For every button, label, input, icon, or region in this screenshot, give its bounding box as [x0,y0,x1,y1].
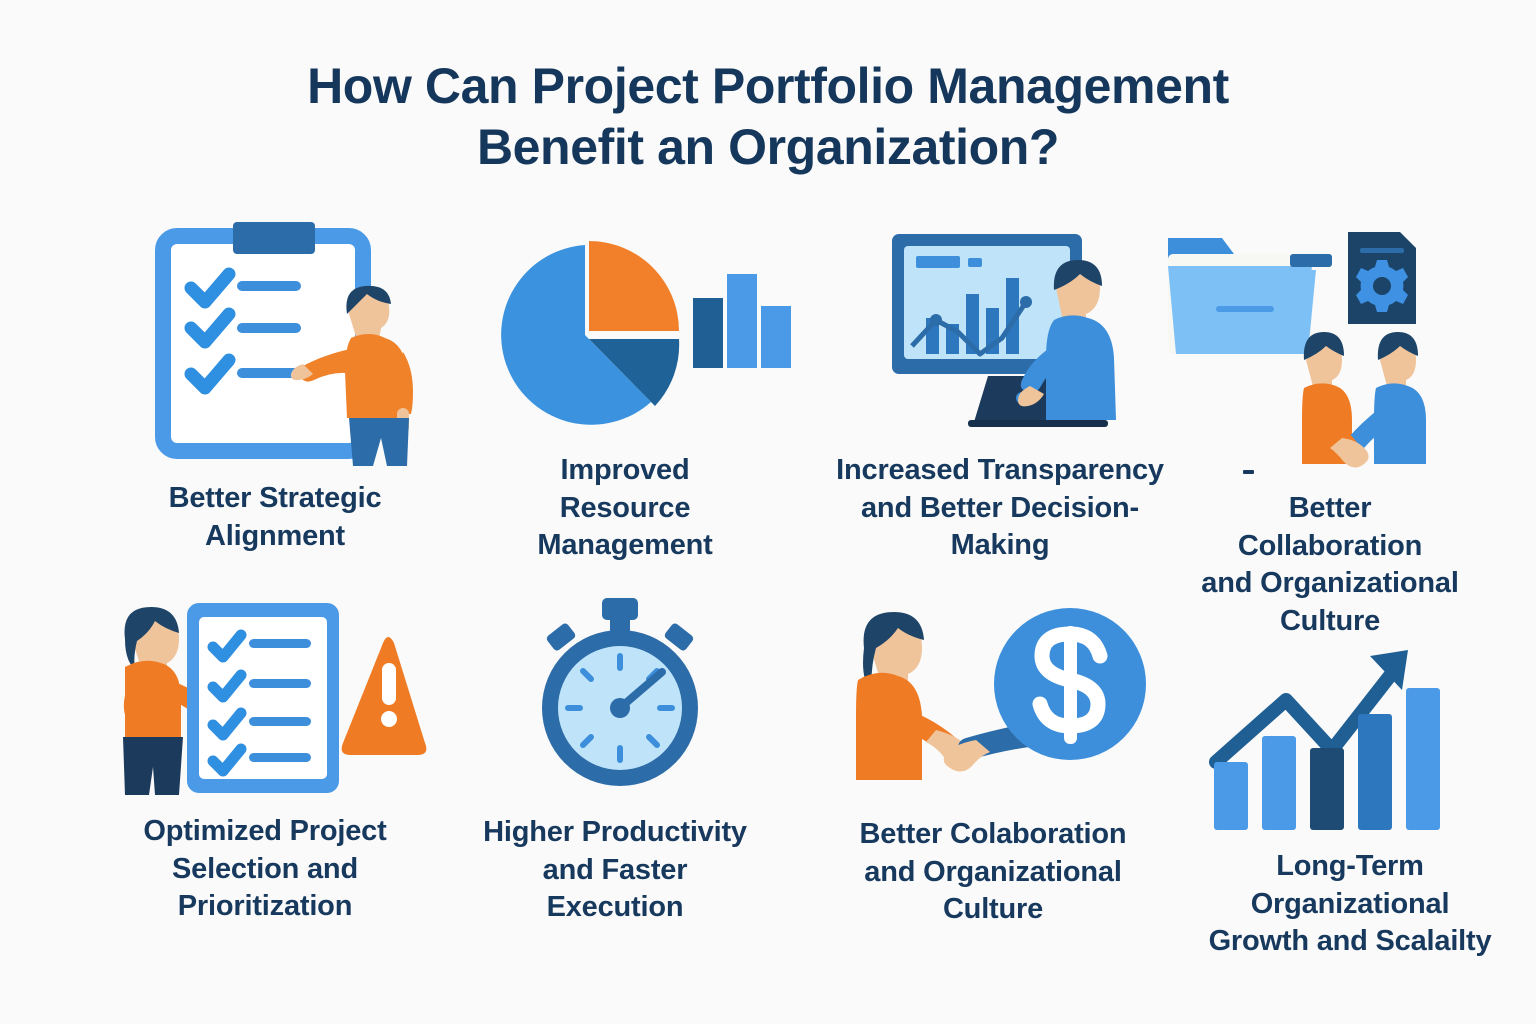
benefit-item-improved-resource-management[interactable]: Improved Resource Management [455,230,795,570]
title-line-2: Benefit an Organization? [0,117,1536,178]
checklist-document [187,603,339,793]
pie-chart [501,241,679,425]
benefit-item-long-term-growth[interactable]: Long-Term Organizational Growth and Scal… [1180,640,1520,970]
benefit-item-higher-productivity[interactable]: Higher Productivity and Faster Execution [440,598,790,948]
caption-line: Improved [455,452,795,490]
dashboard-monitor-person-laptop-icon [840,228,1140,428]
caption-line: Organizational [1180,886,1520,924]
caption-line: Prioritization [85,888,445,926]
benefit-caption: Increased Transparency and Better Decisi… [790,452,1210,565]
caption-line: and Organizational [818,854,1168,892]
pie-chart-bars-icon [475,230,775,440]
benefit-item-better-collaboration[interactable]: Better Collaboration and Organizational … [1160,228,1500,628]
bar-chart [693,274,791,368]
caption-line: Growth and Scalailty [1180,923,1520,961]
caption-line: Selection and [85,851,445,889]
caption-line: Culture [818,891,1168,929]
benefit-item-better-strategic-alignment[interactable]: Better Strategic Alignment [95,222,455,562]
caption-line: Better [1160,490,1500,528]
growth-arrow-bar-chart-icon [1200,640,1480,840]
benefit-item-increased-transparency[interactable]: Increased Transparency and Better Decisi… [790,228,1210,568]
caption-line: Higher Productivity [440,814,790,852]
caption-line: Collaboration [1160,528,1500,566]
warning-triangle-icon [342,637,427,755]
folder-icon [1168,238,1332,354]
title-line-1: How Can Project Portfolio Management [307,58,1229,114]
benefit-caption: Better Collaboration and Organizational … [1160,490,1500,641]
gear-document-icon [1348,232,1416,324]
benefit-caption: Better Strategic Alignment [95,480,455,555]
caption-line: Execution [440,889,790,927]
caption-line: Increased Transparency [790,452,1210,490]
benefit-caption: Improved Resource Management [455,452,795,565]
caption-line: Better Strategic [95,480,455,518]
woman-checklist-warning-icon [95,595,425,805]
page-title: How Can Project Portfolio Management Ben… [0,56,1536,178]
benefit-caption: Higher Productivity and Faster Execution [440,814,790,927]
handshake-dollar-coin-icon [828,598,1158,808]
stopwatch-icon [520,598,720,798]
benefit-item-optimized-project-selection[interactable]: Optimized Project Selection and Prioriti… [85,595,445,955]
caption-line: Making [790,527,1210,565]
caption-line: Better Colaboration [818,816,1168,854]
man-arm-with-coin [944,608,1146,772]
caption-line: Alignment [95,518,455,556]
caption-line: Long-Term [1180,848,1520,886]
clipboard-checklist-person-icon [125,222,425,472]
caption-line: Resource [455,490,795,528]
caption-line: and Organizational [1160,565,1500,603]
benefit-caption: Better Colaboration and Organizational C… [818,816,1168,929]
caption-line: and Better Decision- [790,490,1210,528]
benefit-caption: Optimized Project Selection and Prioriti… [85,813,445,926]
benefit-caption: Long-Term Organizational Growth and Scal… [1180,848,1520,961]
benefit-item-better-colaboration-dollar[interactable]: Better Colaboration and Organizational C… [818,598,1168,948]
two-people-handshake [1302,332,1426,468]
caption-line: and Faster [440,852,790,890]
folder-gear-handshake-icon [1160,228,1460,468]
caption-line: Culture [1160,603,1500,641]
caption-line: Management [455,527,795,565]
infographic-page: How Can Project Portfolio Management Ben… [0,0,1536,1024]
caption-line: Optimized Project [85,813,445,851]
